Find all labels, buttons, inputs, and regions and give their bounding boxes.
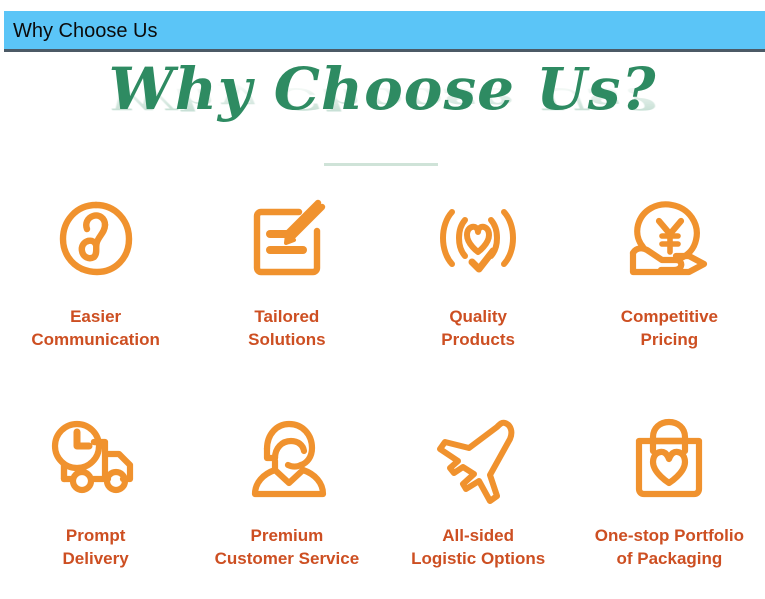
document-pencil-icon xyxy=(239,194,335,290)
feature-caption: Prompt Delivery xyxy=(63,525,129,570)
feature-caption: Tailored Solutions xyxy=(248,306,325,351)
caption-line-1: Quality xyxy=(441,306,515,329)
caption-line-1: Competitive xyxy=(621,306,718,329)
feature-caption: Easier Communication xyxy=(31,306,159,351)
caption-line-2: Products xyxy=(441,329,515,352)
feature-caption: One-stop Portfolio of Packaging xyxy=(595,525,744,570)
heart-checkmark-signal-icon xyxy=(430,194,526,290)
caption-line-2: Pricing xyxy=(621,329,718,352)
window-title: Why Choose Us xyxy=(13,19,158,43)
caption-line-2: Solutions xyxy=(248,329,325,352)
features-row-1: Easier Communication T xyxy=(0,180,765,396)
feature-card-easier-communication[interactable]: Easier Communication xyxy=(0,180,191,396)
feature-card-competitive-pricing[interactable]: Competitive Pricing xyxy=(574,180,765,396)
feature-card-one-stop-portfolio-of-packaging[interactable]: One-stop Portfolio of Packaging xyxy=(574,396,765,599)
feature-caption: Competitive Pricing xyxy=(621,306,718,351)
hand-holding-yen-coin-icon xyxy=(621,194,717,290)
feature-card-prompt-delivery[interactable]: Prompt Delivery xyxy=(0,396,191,599)
feature-card-premium-customer-service[interactable]: Premium Customer Service xyxy=(191,396,382,599)
caption-line-1: Premium xyxy=(215,525,360,548)
shopping-bag-heart-icon xyxy=(621,413,717,509)
delivery-truck-clock-icon xyxy=(48,413,144,509)
ear-listening-icon xyxy=(48,194,144,290)
feature-caption: Quality Products xyxy=(441,306,515,351)
caption-line-1: One-stop Portfolio xyxy=(595,525,744,548)
caption-line-2: of Packaging xyxy=(595,548,744,571)
feature-caption: Premium Customer Service xyxy=(215,525,360,570)
page-content: Why Choose Us? Why Choose Us? xyxy=(0,56,765,599)
caption-line-1: Easier xyxy=(31,306,159,329)
caption-line-1: Tailored xyxy=(248,306,325,329)
caption-line-1: All-sided xyxy=(411,525,545,548)
caption-line-2: Delivery xyxy=(63,548,129,571)
hero-section: Why Choose Us? Why Choose Us? xyxy=(0,56,765,168)
feature-card-all-sided-logistic-options[interactable]: All-sided Logistic Options xyxy=(383,396,574,599)
hero-divider xyxy=(324,163,438,166)
caption-line-2: Logistic Options xyxy=(411,548,545,571)
feature-card-quality-products[interactable]: Quality Products xyxy=(383,180,574,396)
airplane-icon xyxy=(430,413,526,509)
window-titlebar: Why Choose Us xyxy=(4,11,765,52)
caption-line-2: Communication xyxy=(31,329,159,352)
feature-card-tailored-solutions[interactable]: Tailored Solutions xyxy=(191,180,382,396)
caption-line-1: Prompt xyxy=(63,525,129,548)
hero-heading: Why Choose Us? xyxy=(109,55,657,123)
hero-heading-wrap: Why Choose Us? xyxy=(0,56,765,122)
feature-caption: All-sided Logistic Options xyxy=(411,525,545,570)
features-row-2: Prompt Delivery xyxy=(0,396,765,599)
caption-line-2: Customer Service xyxy=(215,548,360,571)
features-grid: Easier Communication T xyxy=(0,180,765,599)
headset-agent-icon xyxy=(239,413,335,509)
